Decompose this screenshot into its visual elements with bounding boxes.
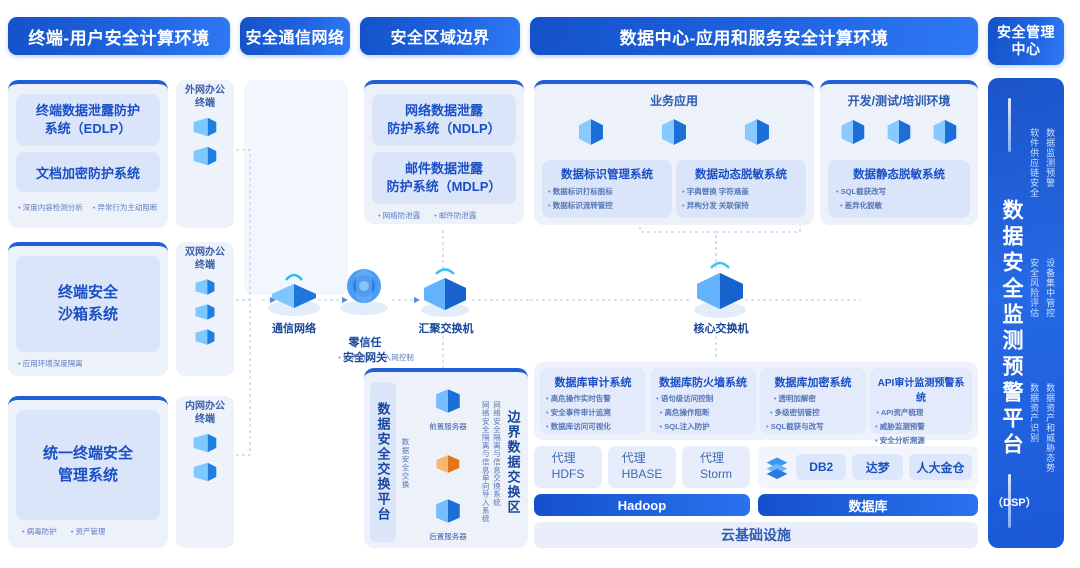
boundary-systems-panel: 网络数据泄露 防护系统（NDLP） 邮件数据泄露 防护系统（MDLP） 网络防泄… [364, 80, 524, 224]
sidebar-title: 数据安全监测预警平台 [996, 199, 1026, 459]
system-data-label-mgmt-title: 数据标识管理系统 [561, 166, 653, 182]
gateway-icon [332, 258, 396, 318]
sidebar-sub-3-right: 数据资产和威胁态势 [1044, 383, 1060, 528]
dev-test-env-title: 开发/测试/培训环境 [820, 92, 978, 109]
router-icon [258, 262, 330, 318]
boundary-exchange-zone: 数据安全交换平台 数据安全交换 前置服务器 [364, 368, 528, 548]
sidebar-sub-2-right: 设备集中管控 [1044, 258, 1058, 378]
system-data-label-mgmt: 数据标识管理系统 数据标识打标脱标 数据标识流转管控 [542, 160, 672, 218]
sidebar-title-wrap: 数据安全监测预警平台 [998, 164, 1024, 494]
sidebar-sub-1-right: 数据监测预警 [1044, 128, 1058, 248]
sidebar-dsp-label: （DSP） [992, 494, 1032, 510]
dev-test-env-servers [830, 110, 968, 154]
device-core-switch [688, 250, 752, 328]
system-data-label-mgmt-bullets: 数据标识打标脱标 数据标识流转管控 [548, 186, 613, 211]
business-application-panel: 业务应用 数据标识管理系统 数据标识打标脱标 数据标识流转管控 [534, 80, 814, 225]
system-static-masking-bullets: SQL截获改写 差异化脱敏 [836, 186, 886, 211]
dev-test-env-panel: 开发/测试/培训环境 数据静态脱敏系统 SQL截获改写 差异化脱敏 [820, 80, 978, 225]
db-kingbase: 人大金仓 [909, 454, 972, 480]
device-aggregation-switch [414, 258, 476, 330]
device-aggregation-switch-label: 汇聚交换机 [404, 322, 488, 336]
device-zero-trust-gateway-bullets: 边界防护 入网控制 [316, 352, 436, 363]
sidebar-sub-3-left: 数据资产识别 [1028, 383, 1042, 513]
exchange-servers: 前置服务器 后置服务器 [418, 384, 478, 544]
hadoop-bar: Hadoop [534, 494, 750, 516]
sidebar-sub-2-left: 安全风险评估 [1028, 258, 1042, 378]
switch-icon [414, 258, 476, 320]
security-management-sidebar: 数据安全监测预警平台 （DSP） 软件供应链安全 数据监测预警 安全风险评估 设… [988, 78, 1064, 548]
server-icon [431, 496, 465, 526]
system-db-firewall-bullets: 语句级访问控制 高危操作阻断 SQL注入防护 [656, 393, 713, 432]
system-static-masking-title: 数据静态脱敏系统 [853, 166, 945, 182]
system-dynamic-masking-title: 数据动态脱敏系统 [695, 166, 787, 182]
system-db-encryption: 数据库加密系统 透明加解密 多级密钥管控 SQL截获与改写 [760, 368, 866, 434]
database-stack-icon [764, 454, 790, 480]
system-db-audit: 数据库审计系统 高危操作实时告警 安全事件审计追溯 数据库访问可视化 [540, 368, 646, 434]
server-icon [929, 115, 961, 149]
agent-hdfs: 代理 HDFS [534, 446, 602, 488]
sidebar-tick-top [1008, 98, 1011, 152]
system-api-audit-title: API审计监测预警系统 [875, 374, 967, 404]
system-db-firewall-title: 数据库防火墙系统 [659, 374, 747, 390]
device-communication-network-label: 通信网络 [250, 322, 338, 336]
exchange-zone-subtitle: 网络安全隔离与信息交换系统 网络安全隔离与信息单向导入系统 [480, 382, 502, 542]
db-dameng: 达梦 [852, 454, 902, 480]
system-dynamic-masking-bullets: 字典替换 字符遮盖 异构分发 关联保持 [682, 186, 749, 211]
db-security-row: 数据库审计系统 高危操作实时告警 安全事件审计追溯 数据库访问可视化 数据库防火… [534, 362, 978, 440]
exchange-zone-title: 边界数据交换区 [502, 382, 524, 542]
exchange-platform-title-box: 数据安全交换平台 [370, 382, 396, 542]
system-ndlp: 网络数据泄露 防护系统（NDLP） [372, 94, 516, 146]
system-db-audit-title: 数据库审计系统 [555, 374, 632, 390]
system-db-firewall: 数据库防火墙系统 语句级访问控制 高危操作阻断 SQL注入防护 [650, 368, 756, 434]
server-icon [740, 114, 774, 150]
exchange-platform-title: 数据安全交换平台 [374, 402, 393, 522]
server-icon [431, 386, 465, 416]
firewall-icon [432, 452, 464, 476]
system-mdlp: 邮件数据泄露 防护系统（MDLP） [372, 152, 516, 204]
business-application-servers [550, 110, 798, 154]
system-api-audit-bullets: API资产梳理 威胁监测预警 安全分析溯源 [875, 407, 925, 446]
server-icon [883, 115, 915, 149]
sidebar-sub-1-left: 软件供应链安全 [1028, 128, 1042, 248]
hadoop-agents: 代理 HDFS 代理 HBASE 代理 Storm [534, 446, 750, 488]
system-api-audit: API审计监测预警系统 API资产梳理 威胁监测预警 安全分析溯源 [870, 368, 972, 434]
server-icon [574, 114, 608, 150]
server-icon [657, 114, 691, 150]
system-db-encryption-bullets: 透明加解密 多级密钥管控 SQL截获与改写 [766, 393, 824, 432]
agent-hbase: 代理 HBASE [608, 446, 676, 488]
database-chips: DB2 达梦 人大金仓 [758, 446, 978, 488]
exchange-platform-bullet: 数据安全交换 [400, 388, 414, 538]
device-zero-trust-gateway [332, 258, 396, 330]
boundary-bullets: 网络防泄露 邮件防泄露 [378, 210, 524, 221]
system-db-audit-bullets: 高危操作实时告警 安全事件审计追溯 数据库访问可视化 [546, 393, 611, 432]
database-bar: 数据库 [758, 494, 978, 516]
business-application-title: 业务应用 [534, 92, 814, 109]
system-static-masking: 数据静态脱敏系统 SQL截获改写 差异化脱敏 [828, 160, 970, 218]
agent-storm: 代理 Storm [682, 446, 750, 488]
server-icon [837, 115, 869, 149]
system-db-encryption-title: 数据库加密系统 [775, 374, 852, 390]
architecture-diagram: 终端-用户安全计算环境 安全通信网络 安全区域边界 数据中心-应用和服务安全计算… [0, 0, 1080, 568]
core-switch-icon [688, 250, 752, 320]
db-db2: DB2 [796, 454, 846, 480]
exchange-server-front: 前置服务器 [429, 386, 467, 432]
exchange-server-back: 后置服务器 [429, 496, 467, 542]
cloud-infrastructure-bar: 云基础设施 [534, 522, 978, 548]
device-core-switch-label: 核心交换机 [680, 322, 762, 336]
system-dynamic-masking: 数据动态脱敏系统 字典替换 字符遮盖 异构分发 关联保持 [676, 160, 806, 218]
